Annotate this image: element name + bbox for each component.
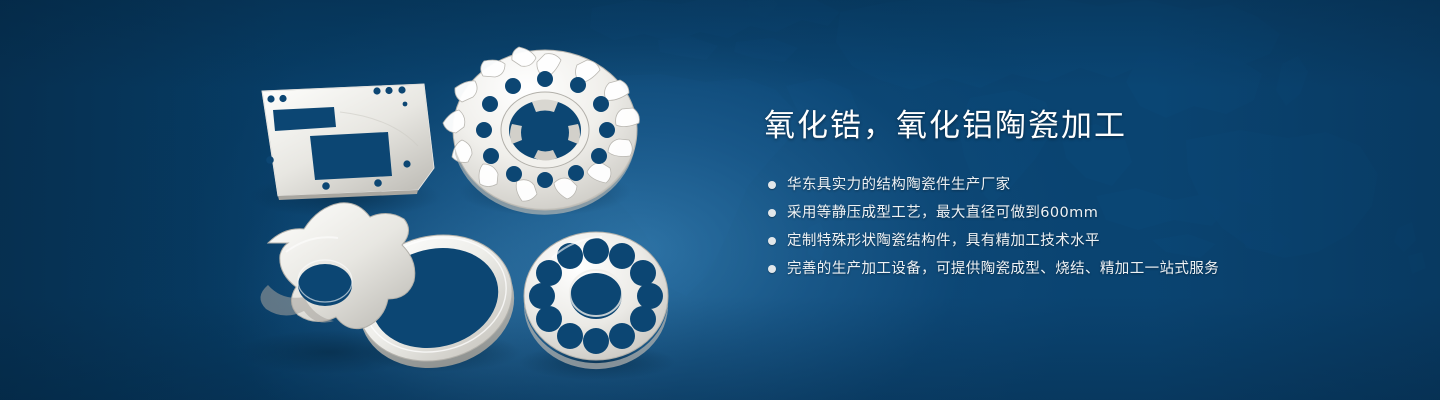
bullet-dot-icon — [768, 237, 776, 245]
product-ceramic-plate — [262, 84, 434, 200]
bullet-dot-icon — [768, 209, 776, 217]
bullet-dot-icon — [768, 265, 776, 273]
page-title: 氧化锆，氧化铝陶瓷加工 — [764, 108, 1404, 146]
list-item: 完善的生产加工设备，可提供陶瓷成型、烧结、精加工一站式服务 — [764, 258, 1404, 281]
list-item: 定制特殊形状陶瓷结构件，具有精加工技术水平 — [764, 230, 1404, 253]
ceramic-products-image — [0, 0, 720, 400]
feature-list: 华东具实力的结构陶瓷件生产厂家 采用等静压成型工艺，最大直径可做到600mm 定… — [764, 174, 1404, 281]
banner-copy: 氧化锆，氧化铝陶瓷加工 华东具实力的结构陶瓷件生产厂家 采用等静压成型工艺，最大… — [764, 108, 1404, 286]
list-item: 华东具实力的结构陶瓷件生产厂家 — [764, 174, 1404, 197]
list-item: 采用等静压成型工艺，最大直径可做到600mm — [764, 202, 1404, 225]
list-item-label: 完善的生产加工设备，可提供陶瓷成型、烧结、精加工一站式服务 — [787, 262, 1219, 277]
hero-banner: 氧化锆，氧化铝陶瓷加工 华东具实力的结构陶瓷件生产厂家 采用等静压成型工艺，最大… — [0, 0, 1440, 400]
list-item-label: 华东具实力的结构陶瓷件生产厂家 — [787, 178, 1011, 193]
list-item-label: 定制特殊形状陶瓷结构件，具有精加工技术水平 — [787, 234, 1100, 249]
product-perforated-disc — [524, 232, 668, 369]
bullet-dot-icon — [768, 181, 776, 189]
list-item-label: 采用等静压成型工艺，最大直径可做到600mm — [787, 206, 1098, 221]
